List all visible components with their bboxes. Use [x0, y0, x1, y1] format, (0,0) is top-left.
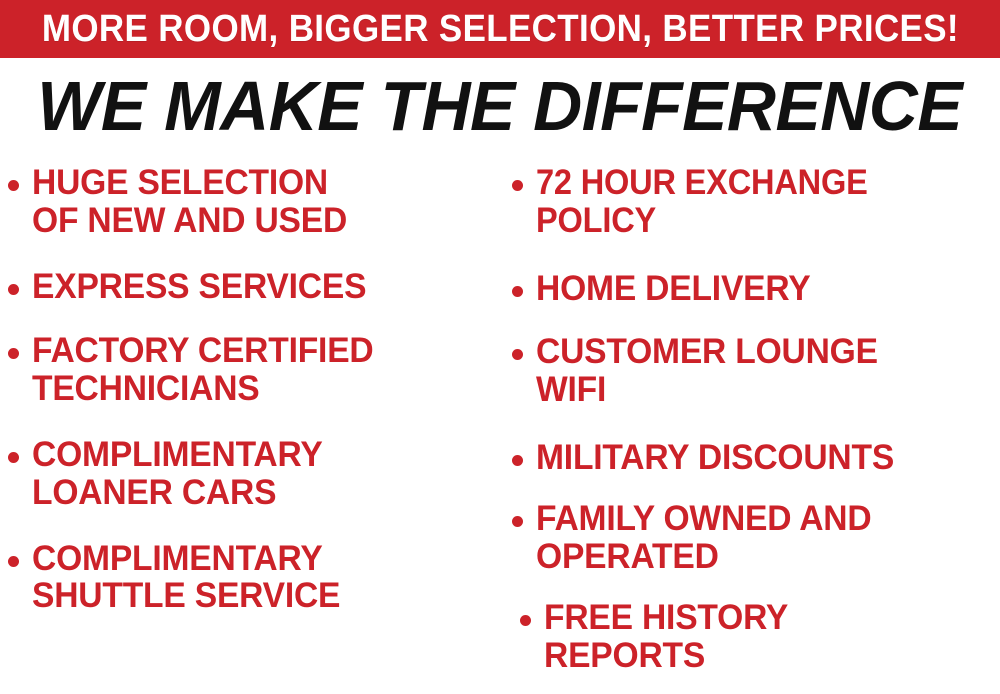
bullet-dot-icon — [8, 284, 19, 295]
list-item: HOME DELIVERY — [512, 270, 1000, 308]
bullet-dot-icon — [8, 180, 19, 191]
list-item: EXPRESS SERVICES — [8, 268, 508, 306]
list-item: CUSTOMER LOUNGE WIFI — [512, 333, 1000, 409]
bullet-dot-icon — [8, 348, 19, 359]
list-item-label: HOME DELIVERY — [536, 270, 981, 308]
bullet-dot-icon — [8, 452, 19, 463]
bullet-dot-icon — [512, 455, 523, 466]
list-item-label: MILITARY DISCOUNTS — [536, 439, 981, 477]
list-item-label: FAMILY OWNED AND OPERATED — [536, 500, 981, 576]
top-banner: MORE ROOM, BIGGER SELECTION, BETTER PRIC… — [0, 0, 1000, 58]
bullet-dot-icon — [520, 615, 531, 626]
bullet-dot-icon — [8, 556, 19, 567]
benefits-columns: HUGE SELECTION OF NEW AND USED EXPRESS S… — [0, 158, 1000, 694]
list-item: COMPLIMENTARY LOANER CARS — [8, 436, 508, 512]
list-item: COMPLIMENTARY SHUTTLE SERVICE — [8, 540, 508, 616]
list-item-label: CUSTOMER LOUNGE WIFI — [536, 333, 981, 409]
list-item: FAMILY OWNED AND OPERATED — [512, 500, 1000, 576]
list-item: FREE HISTORY REPORTS — [520, 599, 1000, 675]
bullet-dot-icon — [512, 180, 523, 191]
list-item-label: FACTORY CERTIFIED TECHNICIANS — [32, 332, 489, 408]
list-item: FACTORY CERTIFIED TECHNICIANS — [8, 332, 508, 408]
list-item: 72 HOUR EXCHANGE POLICY — [512, 164, 1000, 240]
list-item-label: EXPRESS SERVICES — [32, 268, 489, 306]
page-title: WE MAKE THE DIFFERENCE — [38, 71, 963, 141]
list-item: MILITARY DISCOUNTS — [512, 439, 1000, 477]
bullet-dot-icon — [512, 516, 523, 527]
list-item-label: FREE HISTORY REPORTS — [544, 599, 982, 675]
headline-container: WE MAKE THE DIFFERENCE — [0, 66, 1000, 146]
list-item: HUGE SELECTION OF NEW AND USED — [8, 164, 508, 240]
list-item-label: HUGE SELECTION OF NEW AND USED — [32, 164, 489, 240]
list-item-label: COMPLIMENTARY LOANER CARS — [32, 436, 489, 512]
top-banner-text: MORE ROOM, BIGGER SELECTION, BETTER PRIC… — [41, 10, 958, 48]
list-item-label: 72 HOUR EXCHANGE POLICY — [536, 164, 968, 240]
list-item-label: COMPLIMENTARY SHUTTLE SERVICE — [32, 540, 489, 616]
benefits-column-right: 72 HOUR EXCHANGE POLICY HOME DELIVERY CU… — [512, 158, 1000, 694]
promo-poster: MORE ROOM, BIGGER SELECTION, BETTER PRIC… — [0, 0, 1000, 694]
bullet-dot-icon — [512, 349, 523, 360]
bullet-dot-icon — [512, 286, 523, 297]
benefits-column-left: HUGE SELECTION OF NEW AND USED EXPRESS S… — [8, 158, 508, 694]
